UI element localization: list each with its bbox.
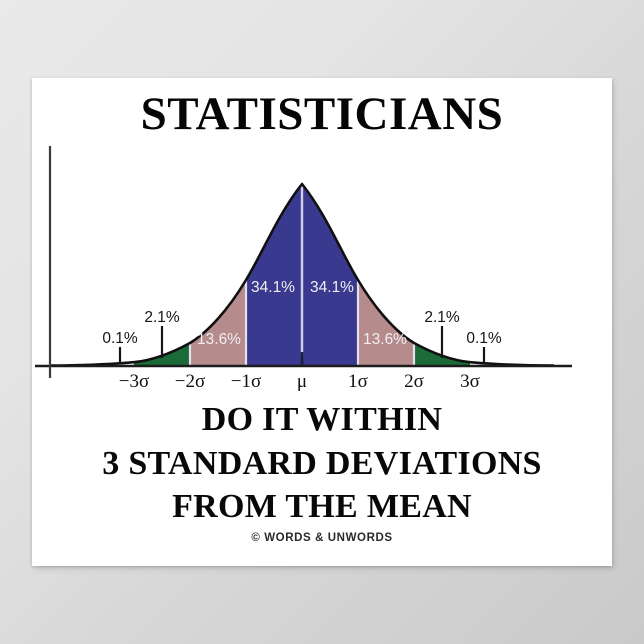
copyright-credit: © WORDS & UNWORDS [32, 532, 612, 544]
annotation-left-2p1-percent: 2.1% [144, 309, 180, 326]
x-tick-label-minus-2-sigma: −2σ [175, 371, 205, 392]
tagline-line-3: FROM THE MEAN [32, 485, 612, 529]
poster-scene: STATISTICIANS [0, 0, 644, 644]
annotation-left-0p1-percent: 0.1% [102, 330, 138, 347]
tagline-line-2: 3 STANDARD DEVIATIONS [32, 442, 612, 486]
annotation-right-13p6-percent: 13.6% [363, 331, 407, 348]
annotation-right-34p1-percent: 34.1% [310, 279, 354, 296]
x-tick-label-minus-3-sigma: −3σ [119, 371, 149, 392]
x-tick-label-plus-1-sigma: 1σ [348, 371, 368, 392]
band-left-inner-sigma [246, 184, 302, 366]
bell-curve-svg: 0.1% 2.1% 13.6% 34.1% 34.1% 13.6% 2.1% 0… [32, 144, 612, 392]
x-tick-label-plus-2-sigma: 2σ [404, 371, 424, 392]
annotation-left-34p1-percent: 34.1% [251, 279, 295, 296]
poster-sheet: STATISTICIANS [32, 78, 612, 566]
page-title: STATISTICIANS [32, 91, 612, 138]
x-tick-label-plus-3-sigma: 3σ [460, 371, 480, 392]
annotation-right-0p1-percent: 0.1% [466, 330, 502, 347]
tagline-line-1: DO IT WITHIN [32, 398, 612, 442]
x-tick-label-mu: μ [297, 371, 307, 392]
band-right-inner-sigma [302, 184, 358, 366]
x-tick-label-minus-1-sigma: −1σ [231, 371, 261, 392]
normal-distribution-chart: 0.1% 2.1% 13.6% 34.1% 34.1% 13.6% 2.1% 0… [32, 144, 612, 392]
tagline-block: DO IT WITHIN 3 STANDARD DEVIATIONS FROM … [32, 398, 612, 529]
annotation-right-2p1-percent: 2.1% [424, 309, 460, 326]
annotation-left-13p6-percent: 13.6% [197, 331, 241, 348]
